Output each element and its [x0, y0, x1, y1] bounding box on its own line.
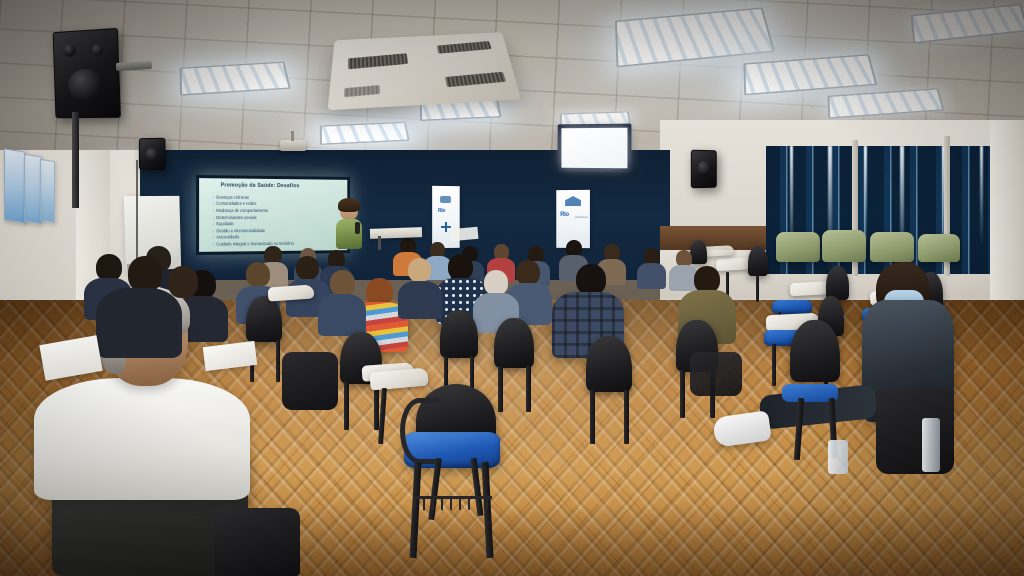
- pa-speaker: [139, 138, 166, 170]
- attendee-head: [516, 260, 540, 285]
- projection-screen: Promoção da Saúde: Desafios Doenças crôn…: [196, 175, 350, 255]
- water-bottle: [922, 418, 940, 472]
- attendee-head: [246, 262, 270, 287]
- attendee-torso: [318, 294, 366, 336]
- cable: [136, 160, 138, 270]
- backpack: [282, 352, 338, 410]
- table-leg: [378, 236, 381, 250]
- presenter: [336, 200, 362, 252]
- rear-armchair: [776, 232, 820, 262]
- speaker-pole: [72, 112, 79, 208]
- right-corner-wall: [990, 120, 1024, 300]
- attendee-torso: [398, 281, 442, 319]
- slide-bullet: Mudança de comportamento: [213, 208, 343, 215]
- conference-room-photo: Promoção da Saúde: Desafios Doenças crôn…: [0, 0, 1024, 576]
- wall-monitor: [558, 124, 632, 173]
- building-icon: [565, 196, 581, 206]
- attendee-head: [448, 254, 473, 280]
- rear-armchair: [822, 230, 866, 262]
- attendee-head: [576, 264, 606, 295]
- wall-poster: [40, 159, 55, 223]
- wall-poster: [4, 148, 26, 223]
- banner-right-logo: Rio: [560, 212, 569, 218]
- attendee-head: [96, 254, 122, 281]
- monitor-screen: [561, 128, 627, 169]
- attendee-head: [484, 270, 508, 295]
- ceiling-projector: [280, 140, 306, 151]
- bag: [214, 508, 300, 576]
- banner-right-tagline: prefeitura: [575, 215, 588, 219]
- attendee-head: [408, 258, 431, 282]
- slide-title: Promoção da Saúde: Desafios: [221, 183, 342, 190]
- paper: [450, 227, 479, 241]
- attendee-white-tshirt: [34, 378, 250, 500]
- rear-armchair: [918, 234, 960, 262]
- backpack: [876, 388, 954, 474]
- projector-mount: [291, 131, 294, 141]
- banner-left-logo: Rio: [438, 208, 445, 214]
- backpack: [690, 352, 742, 396]
- pa-speaker: [691, 150, 717, 189]
- pa-speaker: [53, 28, 121, 118]
- attendee-head: [694, 266, 720, 293]
- microphone: [355, 222, 360, 234]
- rear-armchair: [870, 232, 914, 262]
- attendee-head: [296, 256, 319, 280]
- slide-bullet-list: Doenças crônicas Comunidades e redes Mud…: [213, 194, 343, 248]
- water-bottle: [828, 440, 848, 474]
- attendee-head: [330, 270, 355, 296]
- presenter-hair: [338, 198, 360, 212]
